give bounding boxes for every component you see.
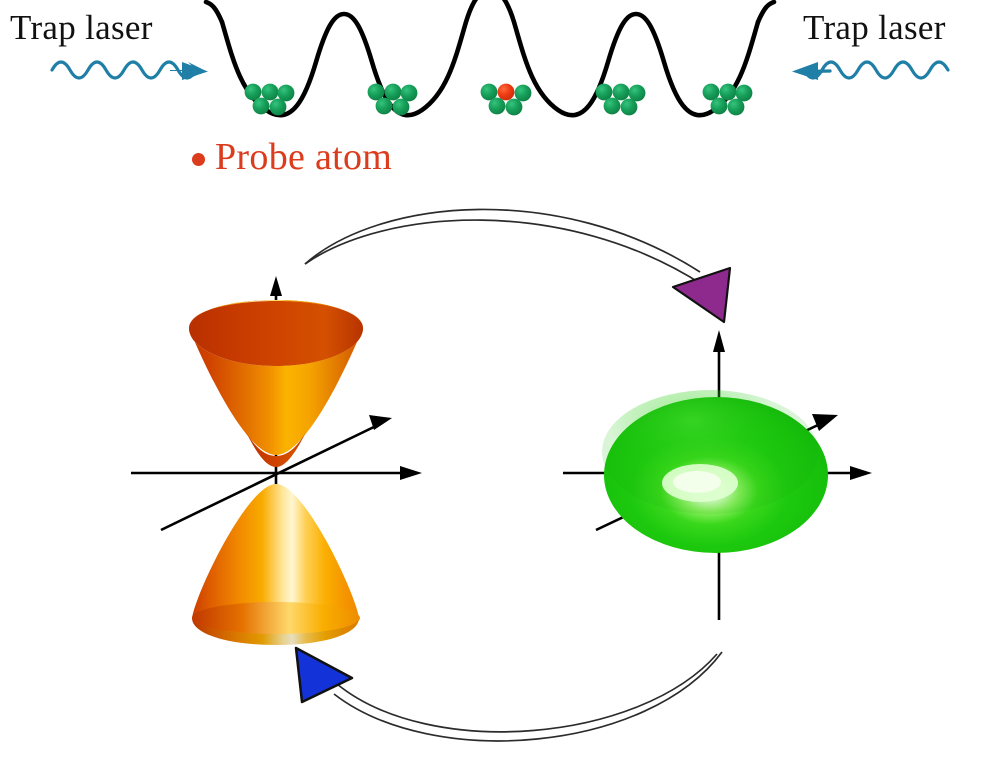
atom-green bbox=[515, 85, 532, 102]
atom-green bbox=[604, 98, 621, 115]
dirac-upper-cone bbox=[189, 300, 363, 467]
atom-green bbox=[253, 98, 270, 115]
probe-atom-label: Probe atom bbox=[215, 135, 392, 179]
atom-green bbox=[506, 99, 523, 116]
figure-canvas: Trap laser Trap laser Probe atom bbox=[0, 0, 1000, 769]
lattice-well-4-atoms bbox=[596, 84, 646, 116]
diagram-svg bbox=[0, 0, 1000, 769]
left-laser-arrow-tip bbox=[182, 62, 208, 80]
lattice-curve-right-tail bbox=[758, 2, 774, 22]
top-arrow-arc-outer bbox=[305, 209, 700, 272]
trap-laser-label-right: Trap laser bbox=[803, 8, 946, 48]
atom-green bbox=[270, 99, 287, 116]
ellipsoid-axis-diagonal-arrow-icon bbox=[812, 414, 838, 431]
atom-green bbox=[376, 98, 393, 115]
green-ellipsoid-specular-core bbox=[673, 471, 721, 493]
atom-green bbox=[728, 99, 745, 116]
atom-green bbox=[489, 98, 506, 115]
bottom-transition-arrow bbox=[296, 648, 722, 741]
lattice-well-2-atoms bbox=[368, 84, 418, 116]
lattice-curve-left-tail bbox=[206, 2, 222, 22]
dirac-axis-horizontal-arrow-icon bbox=[400, 466, 422, 480]
atom-green bbox=[393, 99, 410, 116]
atom-green bbox=[385, 84, 402, 101]
dirac-cone-group bbox=[131, 276, 422, 645]
right-laser-wave bbox=[792, 62, 948, 80]
ellipsoid-axis-vertical-arrow-icon bbox=[713, 330, 725, 352]
probe-atom-legend: Probe atom bbox=[192, 135, 392, 179]
atom-green bbox=[621, 99, 638, 116]
top-transition-arrow bbox=[305, 209, 730, 322]
dirac-lower-cone-base bbox=[192, 602, 360, 634]
atom-green bbox=[613, 84, 630, 101]
lattice-well-3-atoms bbox=[481, 84, 532, 116]
bottom-arrow-arc-outer bbox=[337, 654, 717, 732]
dirac-lower-cone bbox=[192, 484, 360, 645]
top-arrow-purple-arrowhead-icon bbox=[673, 268, 730, 322]
bottom-arrow-blue-arrowhead-icon bbox=[296, 648, 352, 702]
left-laser-wave bbox=[52, 62, 208, 80]
ellipsoid-axis-horizontal-arrow-icon bbox=[850, 466, 872, 480]
dirac-axis-vertical-arrow-icon bbox=[270, 276, 282, 296]
green-ellipsoid-group bbox=[563, 330, 872, 620]
atom-green bbox=[711, 98, 728, 115]
probe-atom-bullet-icon bbox=[192, 153, 205, 166]
bottom-arrow-arc-inner bbox=[334, 652, 722, 741]
trap-laser-label-left: Trap laser bbox=[10, 8, 153, 48]
right-laser-arrow-stem bbox=[806, 71, 830, 72]
atom-green bbox=[720, 84, 737, 101]
probe-atom-red bbox=[498, 84, 515, 101]
atom-green bbox=[262, 84, 279, 101]
